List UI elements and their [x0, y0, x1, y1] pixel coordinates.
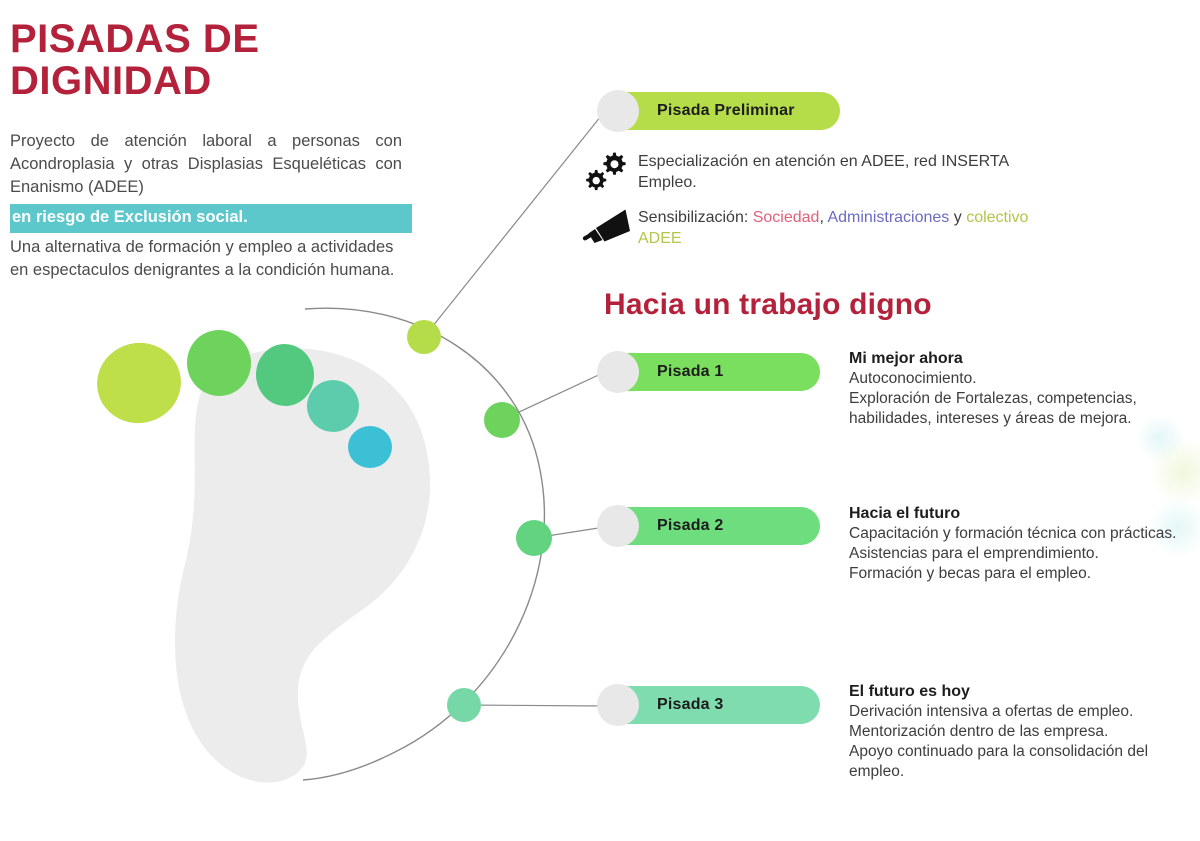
intro-paragraph-2: Una alternativa de formación y empleo a …	[10, 236, 400, 282]
step-body-1: Autoconocimiento. Exploración de Fortale…	[849, 369, 1199, 429]
connector-line-1	[502, 372, 605, 420]
footprint-toe-4	[305, 378, 361, 434]
step-description-2: Hacia el futuro Capacitación y formación…	[849, 505, 1189, 584]
step-description-3: El futuro es hoy Derivación intensiva a …	[849, 683, 1197, 783]
connector-line-2	[534, 527, 605, 538]
decorative-blob-green	[1149, 438, 1200, 506]
pill-dot-2	[597, 505, 639, 547]
infographic-canvas: PISADAS DE DIGNIDAD Proyecto de atención…	[0, 0, 1200, 841]
pill-label-3: Pisada 3	[657, 696, 724, 714]
footprint-toe-5	[348, 426, 392, 468]
pill-pisada-1[interactable]: Pisada 1	[605, 353, 820, 391]
preliminary-item-awareness-text: Sensibilización: Sociedad, Administracio…	[638, 204, 1046, 249]
step-title-3: El futuro es hoy	[849, 683, 1197, 701]
risk-highlight-banner: en riesgo de Exclusión social.	[10, 204, 412, 233]
preliminary-item-specialization: Especialización en atención en ADEE, red…	[576, 148, 1046, 196]
section-heading: Hacia un trabajo digno	[604, 288, 932, 322]
arc-node-2	[516, 520, 552, 556]
arc-node-1	[484, 402, 520, 438]
pill-dot-1	[597, 351, 639, 393]
step-body-2: Capacitación y formación técnica con prá…	[849, 524, 1189, 584]
pill-pisada-2[interactable]: Pisada 2	[605, 507, 820, 545]
awareness-sep-2: y	[949, 209, 966, 226]
timeline-arc	[303, 308, 544, 780]
step-description-1: Mi mejor ahora Autoconocimiento. Explora…	[849, 350, 1199, 429]
footprint-toe-3	[253, 341, 317, 409]
step-body-3: Derivación intensiva a ofertas de empleo…	[849, 702, 1197, 783]
intro-paragraph: Proyecto de atención laboral a personas …	[10, 130, 402, 198]
awareness-word-administraciones: Administraciones	[827, 209, 949, 226]
pill-label-2: Pisada 2	[657, 517, 724, 535]
pill-pisada-3[interactable]: Pisada 3	[605, 686, 820, 724]
awareness-word-sociedad: Sociedad	[753, 209, 820, 226]
footprint-toe-2	[183, 326, 256, 400]
arc-node-3	[447, 688, 481, 722]
footprint-sole	[175, 348, 430, 782]
step-title-1: Mi mejor ahora	[849, 350, 1199, 368]
intro-panel: PISADAS DE DIGNIDAD Proyecto de atención…	[10, 18, 420, 281]
preliminary-item-awareness: Sensibilización: Sociedad, Administracio…	[576, 204, 1046, 250]
page-title: PISADAS DE DIGNIDAD	[10, 18, 420, 102]
pill-label-preliminar: Pisada Preliminar	[657, 102, 795, 120]
pill-pisada-preliminar[interactable]: Pisada Preliminar	[605, 92, 840, 130]
arc-node-preliminar	[407, 320, 441, 354]
pill-label-1: Pisada 1	[657, 363, 724, 381]
megaphone-icon	[576, 204, 638, 250]
preliminary-item-specialization-text: Especialización en atención en ADEE, red…	[638, 148, 1046, 193]
preliminary-items: Especialización en atención en ADEE, red…	[576, 148, 1046, 258]
awareness-prefix: Sensibilización:	[638, 209, 753, 226]
step-title-2: Hacia el futuro	[849, 505, 1189, 523]
pill-dot-3	[597, 684, 639, 726]
gears-icon	[576, 148, 638, 196]
footprint-toe-1	[90, 335, 189, 431]
connector-line-3	[464, 705, 605, 706]
pill-dot-preliminar	[597, 90, 639, 132]
